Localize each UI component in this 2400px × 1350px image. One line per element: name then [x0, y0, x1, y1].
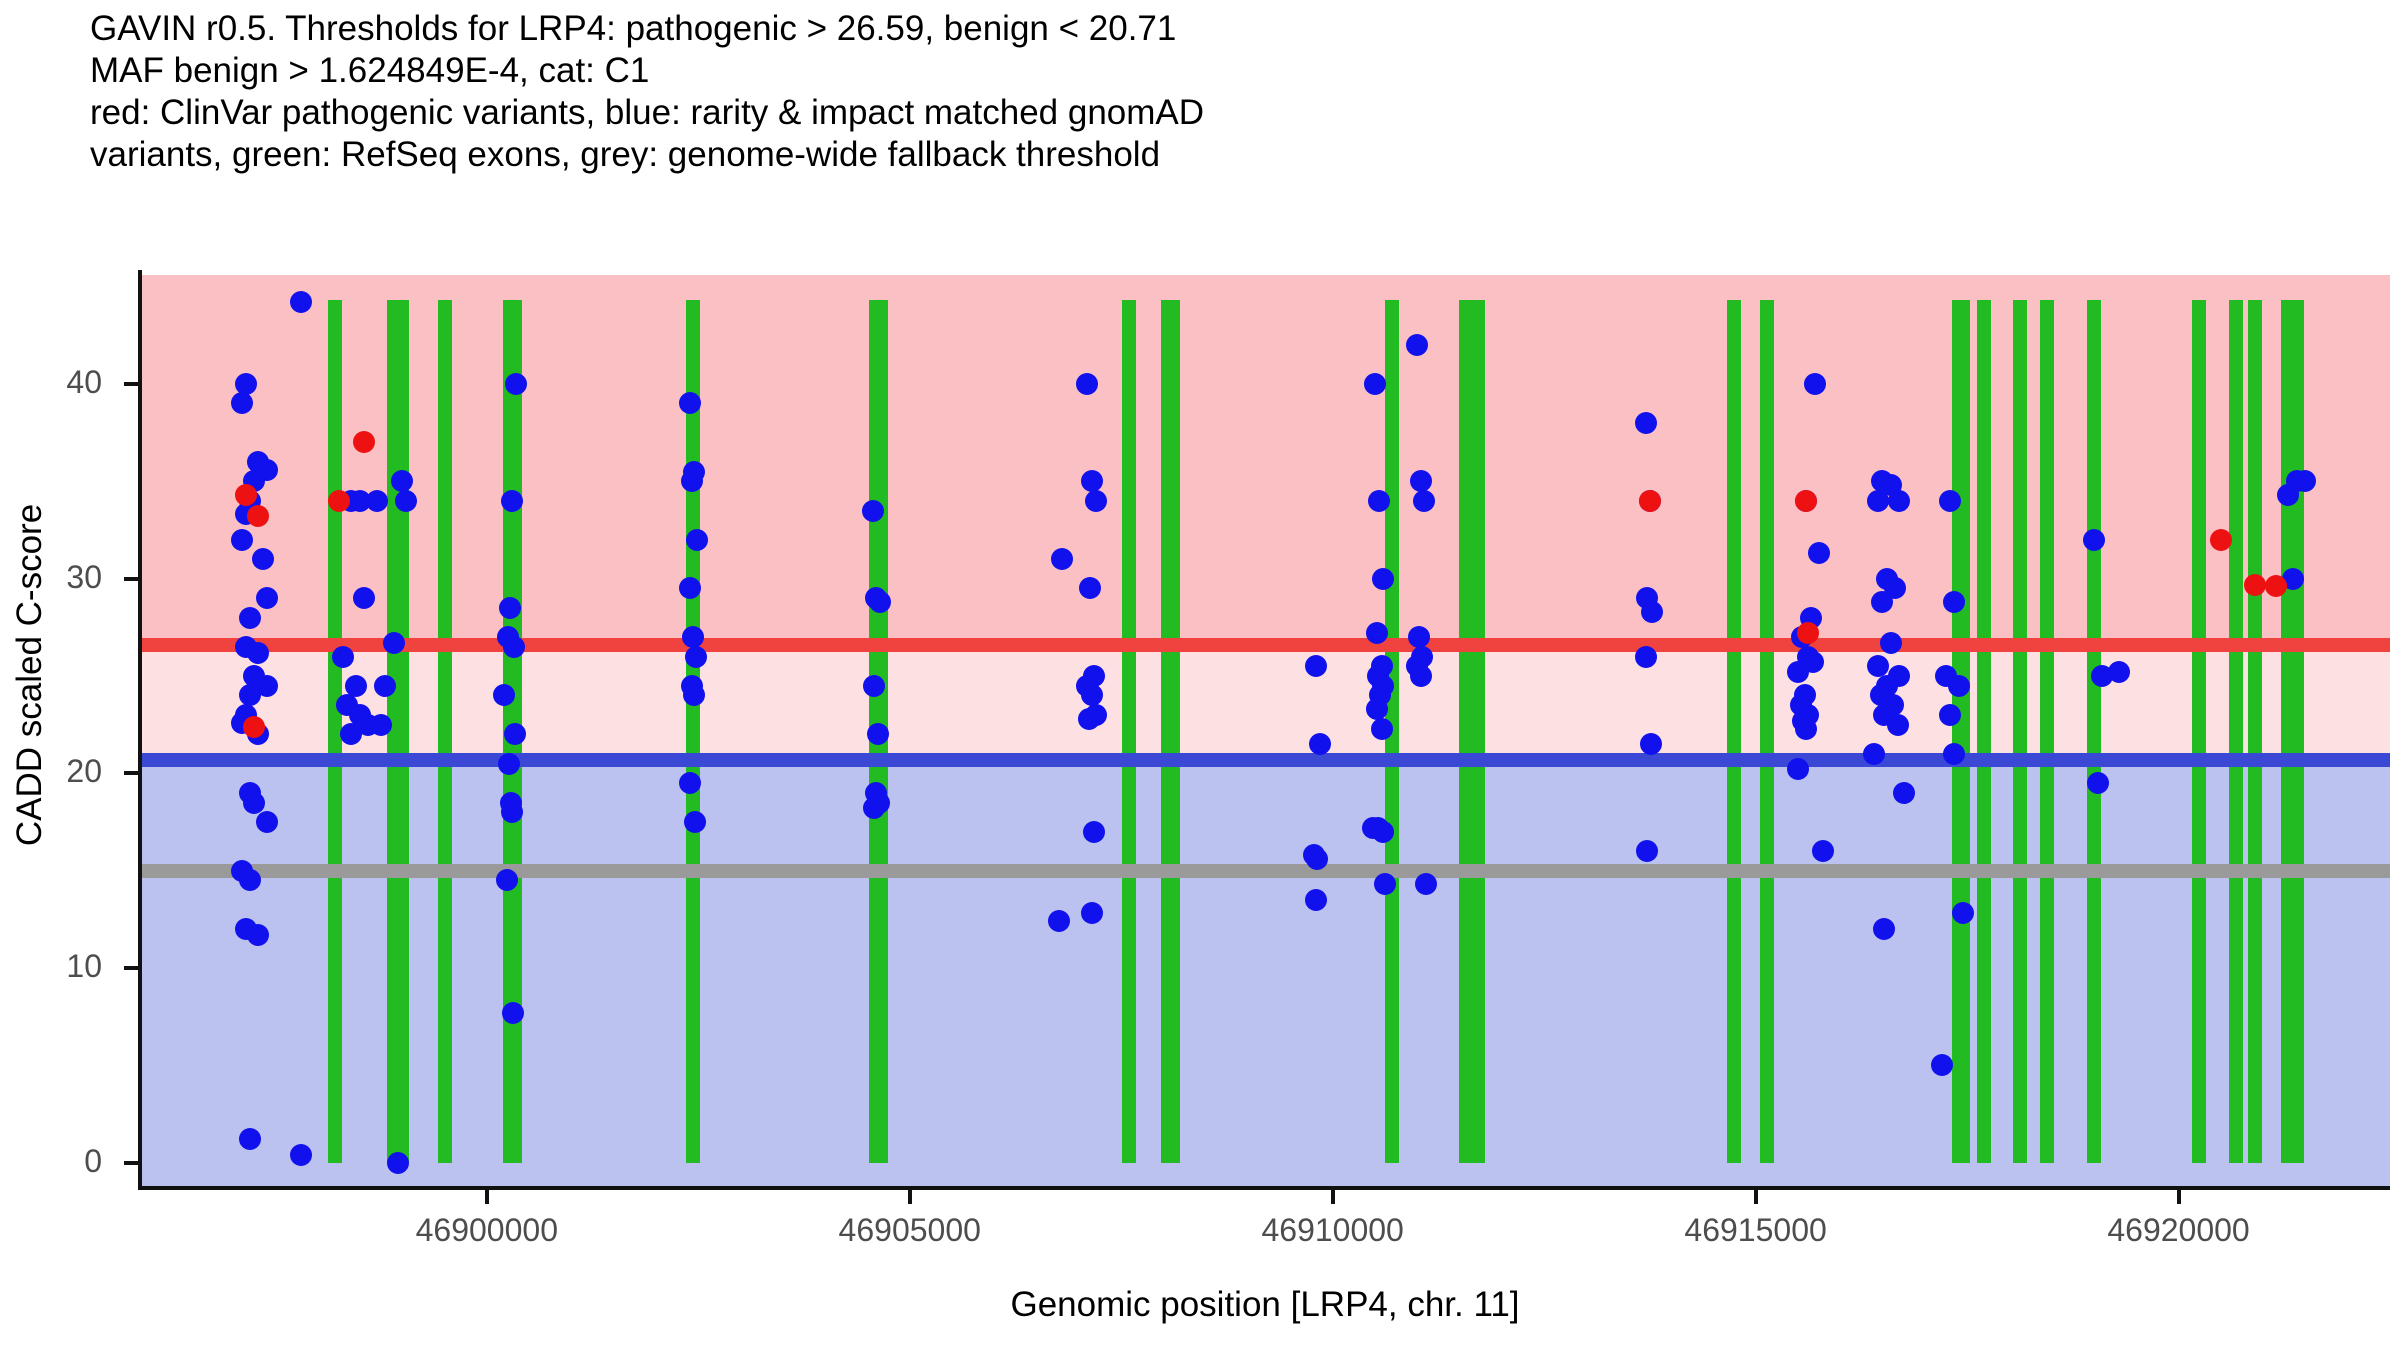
- exon-bar: [1122, 300, 1136, 1162]
- data-point-red: [2210, 529, 2232, 551]
- data-point-blue: [1085, 490, 1107, 512]
- data-point-red: [243, 716, 265, 738]
- data-point-red: [1795, 490, 1817, 512]
- data-point-blue: [1787, 661, 1809, 683]
- exon-bar: [2229, 300, 2243, 1162]
- x-tick-label: 46900000: [337, 1212, 637, 1249]
- data-point-blue: [1368, 490, 1390, 512]
- data-point-blue: [1362, 817, 1384, 839]
- chart-root: GAVIN r0.5. Thresholds for LRP4: pathoge…: [0, 0, 2400, 1350]
- data-point-blue: [1887, 714, 1909, 736]
- exon-bar: [395, 300, 409, 1162]
- exon-bar: [1956, 300, 1970, 1162]
- data-point-blue: [1048, 910, 1070, 932]
- data-point-blue: [383, 632, 405, 654]
- data-point-blue: [256, 587, 278, 609]
- exon-bar: [2290, 300, 2304, 1162]
- data-point-blue: [370, 714, 392, 736]
- data-point-red: [2244, 574, 2266, 596]
- data-point-blue: [1410, 665, 1432, 687]
- data-point-red: [328, 490, 350, 512]
- data-point-blue: [1795, 718, 1817, 740]
- data-point-blue: [503, 636, 525, 658]
- data-point-blue: [686, 529, 708, 551]
- x-tick: [2177, 1190, 2181, 1204]
- data-point-blue: [1413, 490, 1435, 512]
- data-point-blue: [1415, 873, 1437, 895]
- data-point-blue: [1309, 733, 1331, 755]
- data-point-blue: [1931, 1054, 1953, 1076]
- exon-bar: [686, 300, 700, 1162]
- data-point-blue: [1305, 655, 1327, 677]
- data-point-blue: [1408, 626, 1430, 648]
- data-point-blue: [1366, 622, 1388, 644]
- plot-panel: [140, 275, 2390, 1186]
- data-point-red: [1639, 490, 1661, 512]
- hline-benign-threshold: [140, 753, 2390, 767]
- data-point-red: [235, 484, 257, 506]
- data-point-blue: [1635, 646, 1657, 668]
- data-point-blue: [1880, 632, 1902, 654]
- data-point-blue: [1083, 821, 1105, 843]
- exon-bar: [438, 300, 452, 1162]
- data-point-blue: [681, 470, 703, 492]
- data-point-blue: [290, 1144, 312, 1166]
- x-tick-label: 46915000: [1606, 1212, 1906, 1249]
- y-tick: [124, 771, 138, 775]
- data-point-blue: [679, 772, 701, 794]
- data-point-blue: [1939, 704, 1961, 726]
- data-point-blue: [374, 675, 396, 697]
- data-point-blue: [862, 500, 884, 522]
- y-tick-label: 20: [0, 753, 102, 790]
- data-point-blue: [290, 291, 312, 313]
- data-point-blue: [869, 591, 891, 613]
- data-point-blue: [247, 642, 269, 664]
- exon-bar: [328, 300, 342, 1162]
- y-tick-label: 30: [0, 559, 102, 596]
- hline-pathogenic-threshold: [140, 638, 2390, 652]
- data-point-blue: [1305, 889, 1327, 911]
- hline-fallback-threshold: [140, 864, 2390, 878]
- exon-bar: [2013, 300, 2027, 1162]
- data-point-blue: [231, 529, 253, 551]
- data-point-blue: [2083, 529, 2105, 551]
- exon-bar: [2248, 300, 2262, 1162]
- x-tick-label: 46920000: [2029, 1212, 2329, 1249]
- x-tick-label: 46905000: [760, 1212, 1060, 1249]
- data-point-blue: [1804, 373, 1826, 395]
- data-point-blue: [387, 1152, 409, 1174]
- data-point-blue: [501, 490, 523, 512]
- data-point-blue: [1863, 743, 1885, 765]
- y-tick-label: 10: [0, 948, 102, 985]
- exon-bar: [1471, 300, 1485, 1162]
- y-axis-line: [138, 270, 142, 1190]
- data-point-blue: [239, 607, 261, 629]
- data-point-blue: [1372, 568, 1394, 590]
- exon-bar: [1977, 300, 1991, 1162]
- data-point-blue: [1078, 708, 1100, 730]
- data-point-blue: [1939, 490, 1961, 512]
- x-tick: [1331, 1190, 1335, 1204]
- data-point-blue: [1641, 601, 1663, 623]
- data-point-blue: [1867, 490, 1889, 512]
- y-tick: [124, 966, 138, 970]
- exon-bar: [2040, 300, 2054, 1162]
- chart-title: GAVIN r0.5. Thresholds for LRP4: pathoge…: [90, 8, 2380, 176]
- data-point-blue: [1081, 902, 1103, 924]
- exon-bar: [1760, 300, 1774, 1162]
- data-point-blue: [243, 792, 265, 814]
- title-line-3: red: ClinVar pathogenic variants, blue: …: [90, 92, 2380, 134]
- title-line-2: MAF benign > 1.624849E-4, cat: C1: [90, 50, 2380, 92]
- title-line-4: variants, green: RefSeq exons, grey: gen…: [90, 134, 2380, 176]
- data-point-blue: [1948, 675, 1970, 697]
- y-tick: [124, 1161, 138, 1165]
- data-point-blue: [498, 753, 520, 775]
- x-tick-label: 46910000: [1183, 1212, 1483, 1249]
- y-axis-title-text: CADD scaled C-score: [10, 504, 50, 846]
- data-point-blue: [231, 392, 253, 414]
- data-point-blue: [504, 723, 526, 745]
- data-point-blue: [685, 646, 707, 668]
- x-tick: [1754, 1190, 1758, 1204]
- x-tick: [908, 1190, 912, 1204]
- y-tick-label: 0: [0, 1143, 102, 1180]
- exon-bar: [2192, 300, 2206, 1162]
- x-axis-title: Genomic position [LRP4, chr. 11]: [140, 1285, 2390, 1325]
- data-point-blue: [1893, 782, 1915, 804]
- data-point-blue: [1640, 733, 1662, 755]
- data-point-blue: [1366, 698, 1388, 720]
- data-point-blue: [1051, 548, 1073, 570]
- data-point-blue: [863, 675, 885, 697]
- x-tick: [485, 1190, 489, 1204]
- y-tick: [124, 577, 138, 581]
- exon-bar: [2087, 300, 2101, 1162]
- x-axis-line: [138, 1186, 2390, 1190]
- data-point-blue: [1081, 684, 1103, 706]
- data-point-blue: [1081, 470, 1103, 492]
- exon-bar: [1166, 300, 1180, 1162]
- exon-bar: [1727, 300, 1741, 1162]
- data-point-blue: [867, 723, 889, 745]
- data-point-blue: [684, 811, 706, 833]
- data-point-blue: [252, 548, 274, 570]
- y-tick-label: 40: [0, 364, 102, 401]
- data-point-blue: [1371, 718, 1393, 740]
- data-point-blue: [1364, 373, 1386, 395]
- data-point-blue: [256, 811, 278, 833]
- data-point-blue: [502, 1002, 524, 1024]
- title-line-1: GAVIN r0.5. Thresholds for LRP4: pathoge…: [90, 8, 2380, 50]
- data-point-blue: [366, 490, 388, 512]
- data-point-blue: [1635, 412, 1657, 434]
- y-tick: [124, 382, 138, 386]
- data-point-blue: [332, 646, 354, 668]
